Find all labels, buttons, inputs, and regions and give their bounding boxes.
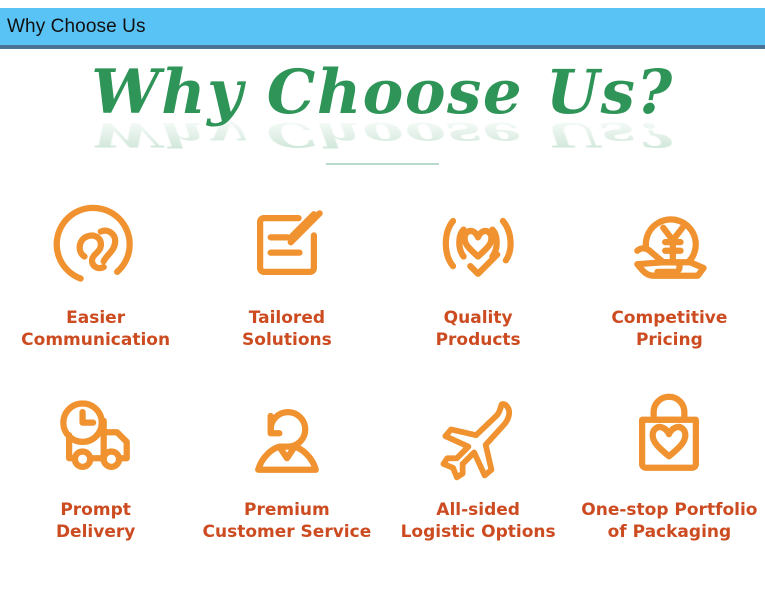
feature-item-all-sided-logistic-options[interactable]: All-sided Logistic Options: [383, 391, 574, 543]
feature-label: Premium Customer Service: [203, 499, 372, 543]
headset-agent-icon: [239, 391, 335, 487]
feature-label: Tailored Solutions: [242, 307, 332, 351]
truck-clock-icon: [48, 391, 144, 487]
feature-label: Easier Communication: [21, 307, 170, 351]
document-pencil-icon: [239, 197, 335, 293]
feature-item-competitive-pricing[interactable]: Competitive Pricing: [574, 197, 765, 351]
feature-item-easier-communication[interactable]: Easier Communication: [0, 197, 191, 351]
feature-label: Prompt Delivery: [56, 499, 135, 543]
airplane-icon: [430, 391, 526, 487]
hero-divider: [326, 163, 439, 165]
feature-label: One-stop Portfolio of Packaging: [581, 499, 757, 543]
feature-item-premium-customer-service[interactable]: Premium Customer Service: [191, 391, 382, 543]
feature-item-one-stop-portfolio-of-packaging[interactable]: One-stop Portfolio of Packaging: [574, 391, 765, 543]
feature-item-prompt-delivery[interactable]: Prompt Delivery: [0, 391, 191, 543]
page-title: Why Choose Us?: [0, 57, 765, 129]
window-title: Why Choose Us: [0, 16, 146, 38]
window-header: Why Choose Us: [0, 8, 765, 49]
feature-row-bottom: Prompt Delivery Premium Customer Service…: [0, 391, 765, 543]
feature-label: Competitive Pricing: [611, 307, 727, 351]
page-body: Why Choose Us? Why Choose Us? Easier Com…: [0, 53, 765, 599]
ear-listening-icon: [48, 197, 144, 293]
heart-signal-check-icon: [430, 197, 526, 293]
feature-row-top: Easier Communication Tailored Solutions: [0, 197, 765, 351]
feature-label: Quality Products: [436, 307, 521, 351]
shopping-bag-heart-icon: [621, 391, 717, 487]
feature-item-tailored-solutions[interactable]: Tailored Solutions: [191, 197, 382, 351]
hand-coin-yen-icon: [621, 197, 717, 293]
hero-section: Why Choose Us? Why Choose Us?: [0, 53, 765, 173]
feature-item-quality-products[interactable]: Quality Products: [383, 197, 574, 351]
feature-label: All-sided Logistic Options: [401, 499, 556, 543]
